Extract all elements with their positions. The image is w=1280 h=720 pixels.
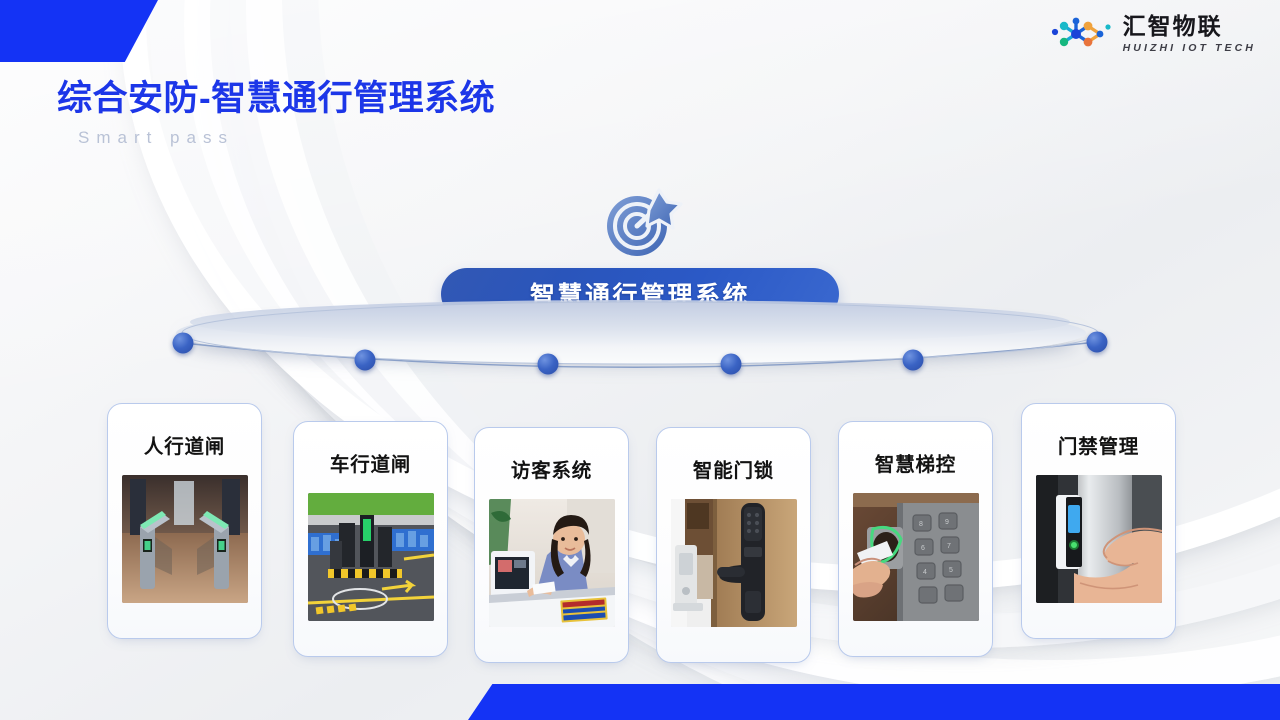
svg-text:7: 7: [947, 543, 951, 550]
elevator-card-reader-photo: 89 67 45: [853, 493, 979, 621]
card-title: 访客系统: [511, 454, 592, 483]
connector-node-5: [903, 350, 924, 371]
feature-card-pedestrian-turnstile[interactable]: 人行道闸: [107, 403, 262, 639]
svg-text:6: 6: [921, 545, 925, 552]
visitor-reception-photo: [489, 499, 615, 627]
page-title: 综合安防-智慧通行管理系统: [57, 70, 495, 121]
connector-node-3: [538, 354, 559, 375]
card-title: 门禁管理: [1058, 430, 1139, 459]
svg-text:4: 4: [923, 569, 927, 576]
target-dart-icon: [597, 184, 685, 262]
page-subtitle: Smart pass: [78, 128, 234, 148]
card-title: 人行道闸: [144, 430, 225, 459]
feature-card-vehicle-barrier[interactable]: 车行道闸: [293, 421, 448, 657]
svg-text:5: 5: [949, 567, 953, 574]
card-title: 车行道闸: [330, 448, 411, 477]
access-control-fingerprint-photo: [1036, 475, 1162, 603]
card-title: 智能门锁: [693, 454, 774, 483]
smart-door-lock-photo: [671, 499, 797, 627]
feature-card-access-control[interactable]: 门禁管理: [1021, 403, 1176, 639]
connector-node-1: [173, 333, 194, 354]
slide-canvas: 综合安防-智慧通行管理系统 Smart pass: [0, 0, 1280, 720]
svg-text:8: 8: [919, 521, 923, 528]
vehicle-barrier-gate-photo: [308, 493, 434, 621]
svg-text:9: 9: [945, 519, 949, 526]
connector-node-2: [355, 350, 376, 371]
card-title: 智慧梯控: [875, 448, 956, 477]
bottom-right-accent-bar: [468, 684, 1280, 720]
platform-ellipse-top: [190, 300, 1070, 344]
company-logo: 汇智物联 HUIZHI IOT TECH: [1050, 14, 1256, 54]
connector-node-4: [721, 354, 742, 375]
connector-node-6: [1087, 332, 1108, 353]
pedestrian-turnstile-photo: [122, 475, 248, 603]
molecule-network-icon: [1050, 14, 1114, 54]
logo-name-cn: 汇智物联: [1123, 15, 1256, 38]
logo-name-en: HUIZHI IOT TECH: [1123, 43, 1256, 54]
feature-card-smart-lock[interactable]: 智能门锁: [656, 427, 811, 663]
feature-card-visitor-system[interactable]: 访客系统: [474, 427, 629, 663]
feature-card-elevator-control[interactable]: 智慧梯控: [838, 421, 993, 657]
